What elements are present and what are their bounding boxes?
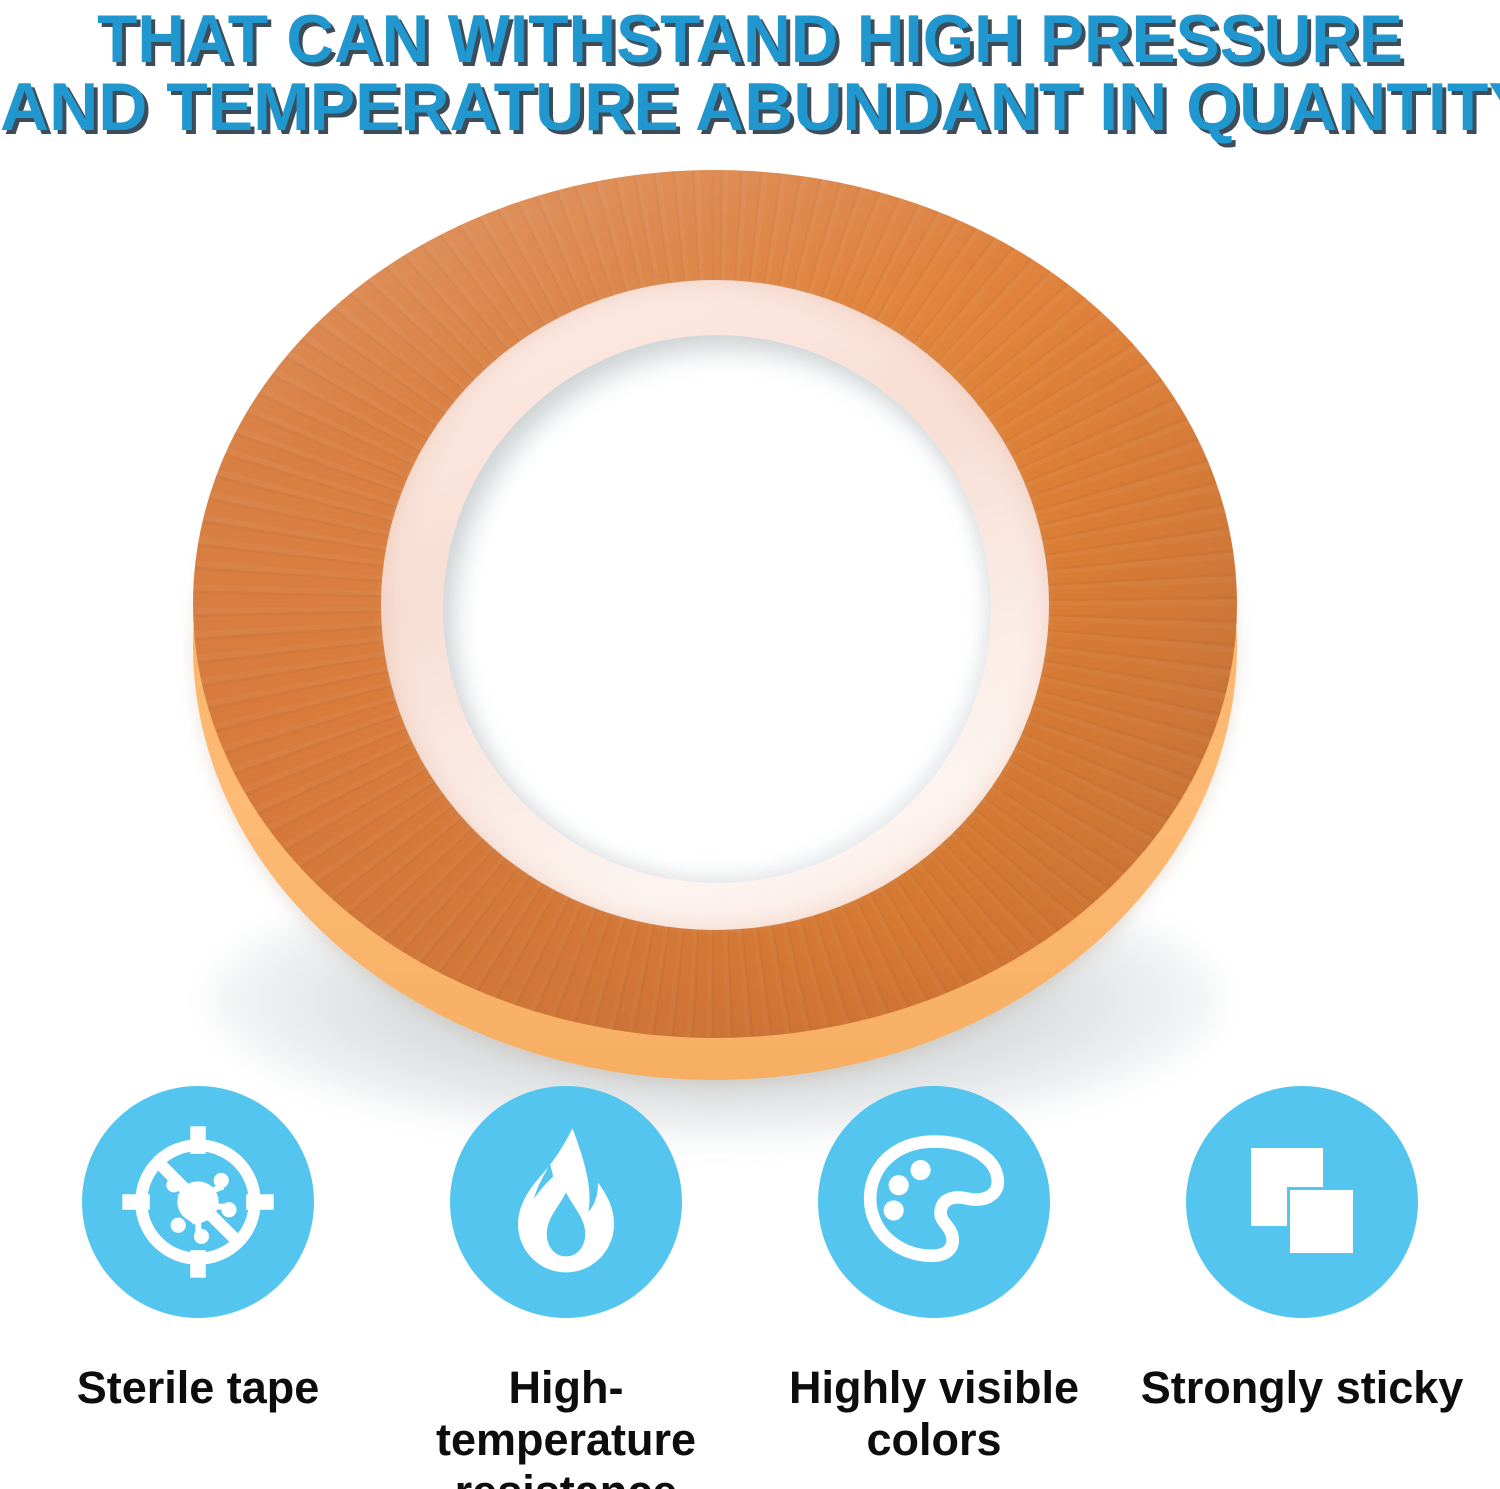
flame-icon (450, 1086, 682, 1318)
feature-label-high-temperature-resistance: High-temperature resistance (396, 1362, 736, 1489)
headline-line-2: AND TEMPERATURE ABUNDANT IN QUANTITY (0, 72, 1500, 140)
tape-roll-image (175, 160, 1255, 1070)
feature-label-highly-visible-colors: Highly visible colors (789, 1362, 1079, 1466)
feature-item-strongly-sticky: Strongly sticky (1132, 1086, 1472, 1489)
feature-label-sterile-tape: Sterile tape (77, 1362, 320, 1414)
product-marketing-image: THAT CAN WITHSTAND HIGH PRESSURE AND TEM… (0, 0, 1500, 1489)
overlapping-squares-icon (1186, 1086, 1418, 1318)
feature-item-sterile-tape: Sterile tape (28, 1086, 368, 1489)
feature-item-highly-visible-colors: Highly visible colors (764, 1086, 1104, 1489)
headline: THAT CAN WITHSTAND HIGH PRESSURE AND TEM… (0, 0, 1500, 140)
feature-label-strongly-sticky: Strongly sticky (1141, 1362, 1464, 1414)
tape-roll-hole (477, 380, 957, 848)
paint-palette-icon (818, 1086, 1050, 1318)
headline-line-1: THAT CAN WITHSTAND HIGH PRESSURE (23, 0, 1478, 72)
no-germ-target-icon (82, 1086, 314, 1318)
feature-item-high-temperature-resistance: High-temperature resistance (396, 1086, 736, 1489)
feature-list: Sterile tape High-temperature resistance (0, 1086, 1500, 1489)
